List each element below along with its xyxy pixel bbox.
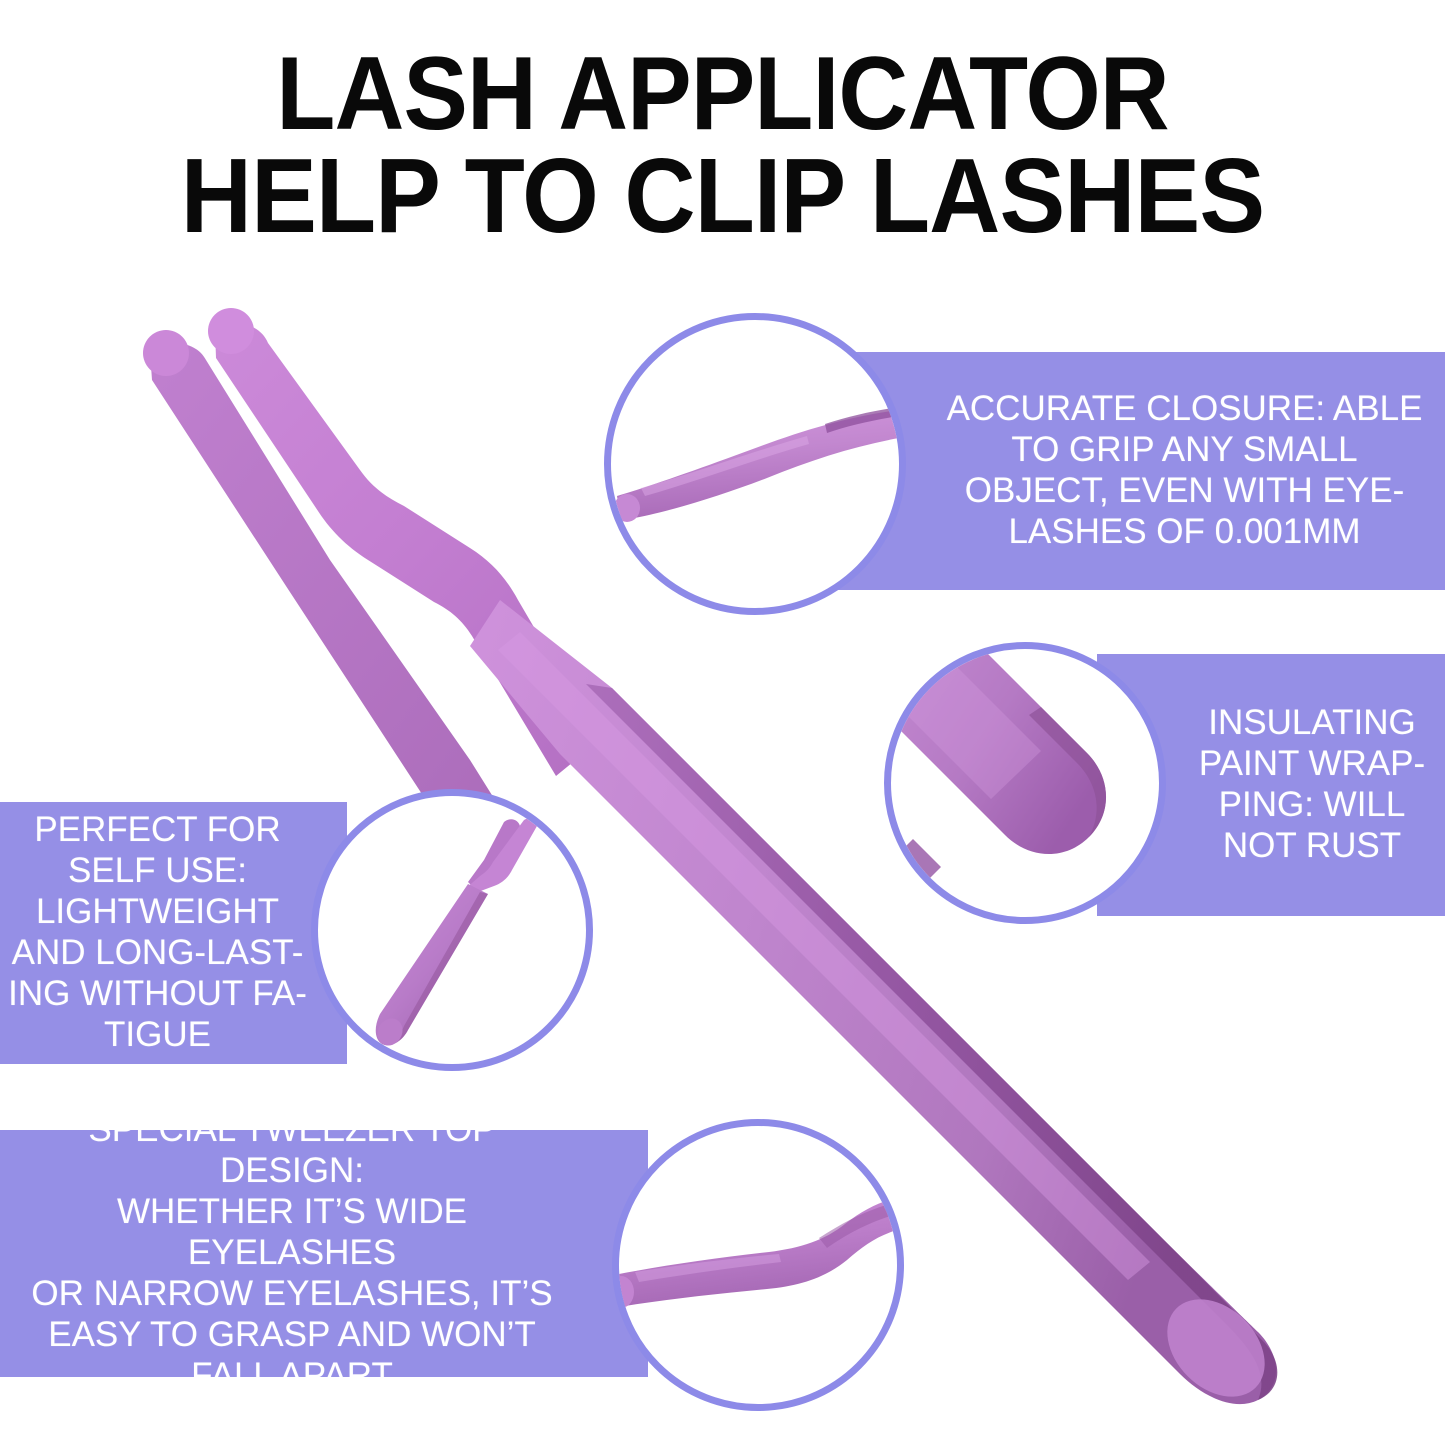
feature-banner-accurate-closure: ACCURATE CLOSURE: ABLE TO GRIP ANY SMALL… xyxy=(836,352,1445,590)
detail-circle-self-use xyxy=(311,789,593,1071)
page-title: LASH APPLICATOR HELP TO CLIP LASHES xyxy=(0,44,1445,248)
feature-text-accurate-closure: ACCURATE CLOSURE: ABLE TO GRIP ANY SMALL… xyxy=(942,389,1427,553)
title-line-1: LASH APPLICATOR xyxy=(51,44,1395,145)
angled-tip-closeup-icon xyxy=(619,1126,897,1404)
detail-circle-accurate-closure xyxy=(604,313,906,615)
feature-text-self-use: PERFECT FOR SELF USE: LIGHTWEIGHT AND LO… xyxy=(6,810,309,1056)
feature-text-tweezer-top-design: SPECIAL TWEEZER TOP DESIGN: WHETHER IT’S… xyxy=(14,1110,570,1397)
product-infographic: LASH APPLICATOR HELP TO CLIP LASHES xyxy=(0,0,1445,1445)
feature-banner-tweezer-top-design: SPECIAL TWEEZER TOP DESIGN: WHETHER IT’S… xyxy=(0,1130,648,1377)
angled-tip-body xyxy=(619,1198,897,1308)
detail-circle-tweezer-top-design xyxy=(612,1119,904,1411)
handle-coating-closeup-icon xyxy=(891,649,1159,917)
tip-rounded-end xyxy=(614,494,640,522)
title-line-2: HELP TO CLIP LASHES xyxy=(51,145,1395,248)
tweezer-rear-arm-tip xyxy=(143,330,189,376)
feature-text-insulating-paint: INSULATING PAINT WRAP- PING: WILL NOT RU… xyxy=(1189,703,1435,867)
handle-coating-second-arm xyxy=(891,839,941,913)
detail-circle-insulating-paint xyxy=(884,642,1166,924)
tweezer-tip-closeup-icon xyxy=(611,320,899,608)
tip-body xyxy=(617,410,899,520)
tweezer-front-arm xyxy=(215,324,600,776)
tweezer-handle-end xyxy=(1148,1280,1284,1416)
full-tweezer-closeup-icon xyxy=(318,796,586,1064)
feature-banner-self-use: PERFECT FOR SELF USE: LIGHTWEIGHT AND LO… xyxy=(0,802,347,1064)
tweezer-front-arm-tip xyxy=(208,308,254,354)
